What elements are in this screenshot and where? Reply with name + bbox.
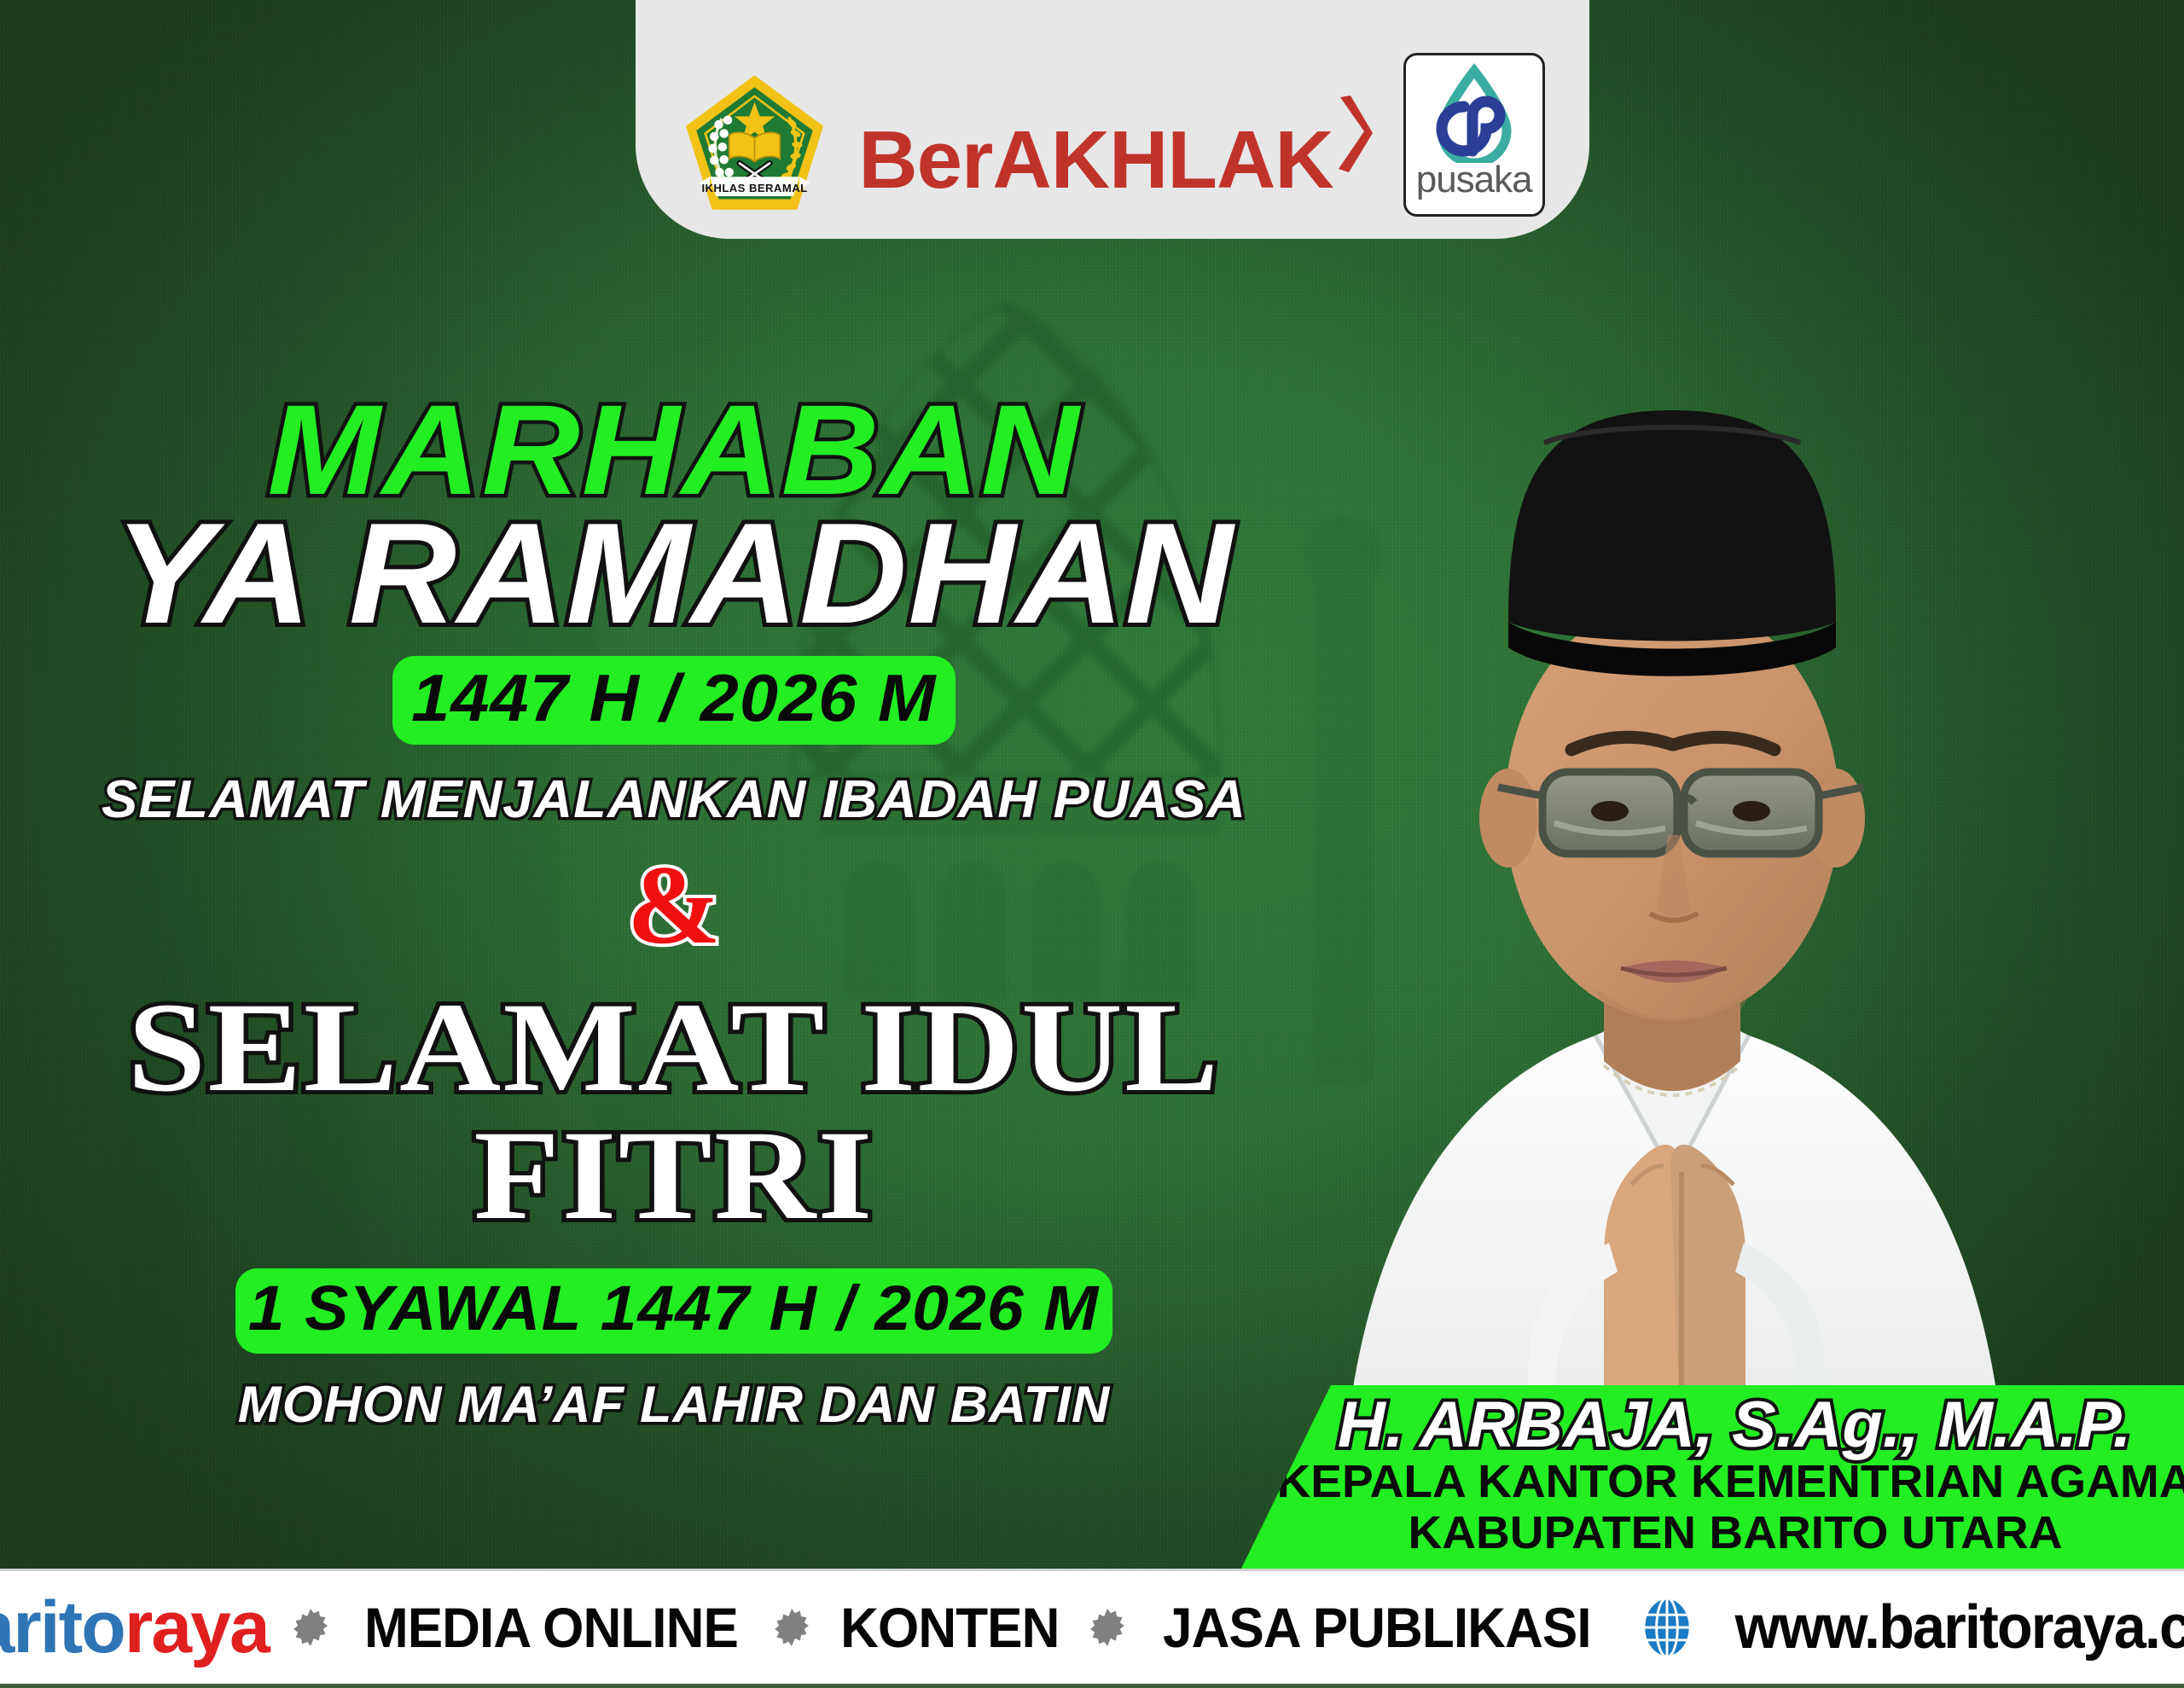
pusaka-logo-icon: pusaka: [1403, 53, 1545, 217]
ampersand-separator: &: [0, 849, 1348, 961]
berakhlak-label: BerAKHLAK: [858, 119, 1333, 201]
poster-canvas: IKHLAS BERAMAL BerAKHLAK pusaka: [0, 0, 2184, 1688]
footer-service-1: KONTEN: [840, 1599, 1059, 1656]
footer-bar: aritoraya MEDIA ONLINE KONTEN JASA PUBLI…: [0, 1569, 2184, 1688]
badge-hijri-year-ramadhan: 1447 H / 2026 M: [392, 656, 955, 745]
berakhlak-swoosh-icon: [1335, 94, 1374, 176]
headline-selamat-idul-fitri: SELAMAT IDUL FITRI: [0, 983, 1415, 1239]
signatory-banner: H. ARBAJA, S.Ag., M.A.P. KEPALA KANTOR K…: [1241, 1385, 2184, 1569]
berakhlak-logo: BerAKHLAK: [858, 119, 1374, 201]
badge-syawal-date-text: 1 SYAWAL 1447 H / 2026 M: [248, 1277, 1099, 1340]
footer-website-url[interactable]: www.baritoraya.com: [1735, 1597, 2184, 1658]
signatory-title-line2: KABUPATEN BARITO UTARA: [1408, 1509, 2062, 1557]
brand-raya-text: raya: [125, 1591, 269, 1664]
signatory-title-line1: KEPALA KANTOR KEMENTRIAN AGAMA: [1276, 1458, 2184, 1506]
starburst-separator-icon: [1088, 1608, 1127, 1647]
badge-syawal-date: 1 SYAWAL 1447 H / 2026 M: [235, 1268, 1112, 1354]
greeting-text-block: MARHABAN YA RAMADHAN 1447 H / 2026 M SEL…: [0, 388, 1348, 1430]
pusaka-label: pusaka: [1416, 161, 1532, 199]
kemenag-logo-icon: IKHLAS BERAMAL: [680, 71, 829, 220]
kemenag-motto-text: IKHLAS BERAMAL: [702, 182, 808, 194]
starburst-separator-icon: [291, 1608, 330, 1647]
globe-icon: [1635, 1596, 1699, 1659]
subline-puasa: SELAMAT MENJALANKAN IBADAH PUASA: [0, 774, 1362, 827]
baritoraya-logo[interactable]: aritoraya: [0, 1583, 269, 1672]
brand-barito-text: arito: [0, 1591, 125, 1664]
signatory-name: H. ARBAJA, S.Ag., M.A.P.: [1338, 1395, 2131, 1456]
subline-mohon-maaf: MOHON MA’AF LAHIR DAN BATIN: [0, 1379, 1362, 1430]
starburst-separator-icon: [772, 1608, 811, 1647]
footer-service-0: MEDIA ONLINE: [364, 1599, 738, 1656]
headline-ya-ramadhan: YA RAMADHAN: [0, 506, 1375, 642]
header-logo-plate: IKHLAS BERAMAL BerAKHLAK pusaka: [636, 0, 1589, 239]
footer-service-2: JASA PUBLIKASI: [1163, 1599, 1591, 1656]
badge-hijri-year-ramadhan-text: 1447 H / 2026 M: [411, 664, 936, 731]
